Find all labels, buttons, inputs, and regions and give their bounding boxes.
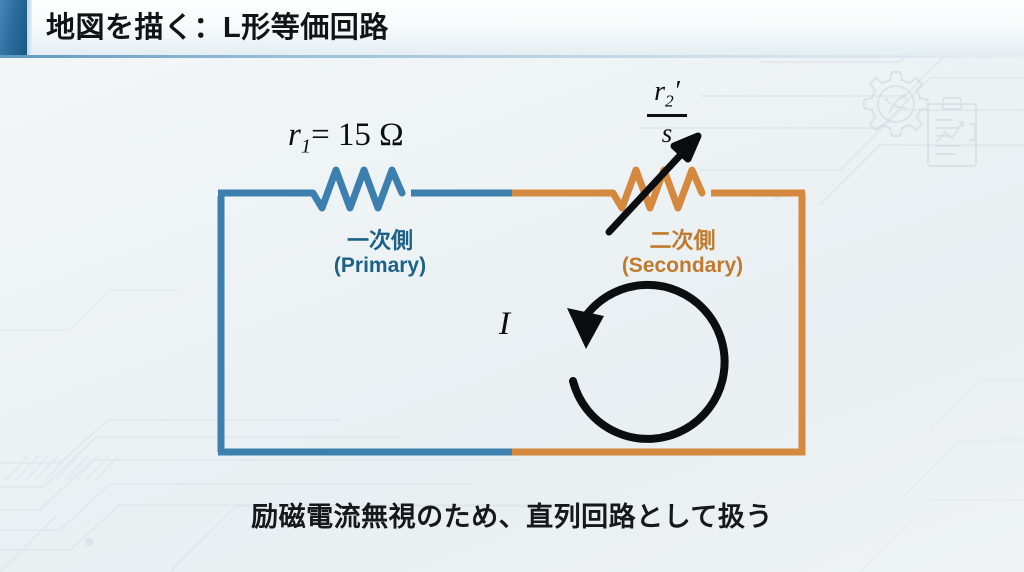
- header-accent-block: [0, 0, 27, 57]
- fraction-bar: [647, 114, 687, 117]
- secondary-resistor-numerator: r2′: [635, 78, 699, 112]
- secondary-resistor-symbol: [613, 170, 702, 208]
- primary-resistor-symbol-text: r: [288, 117, 301, 153]
- variable-resistor-arrow: [609, 136, 698, 232]
- primary-resistor-subscript: 1: [301, 136, 311, 158]
- primary-side-label-jp: 一次側: [300, 228, 460, 254]
- primary-side-label: 一次側 (Primary): [300, 228, 460, 278]
- secondary-resistor-label: r2′ s: [635, 78, 699, 147]
- current-loop-arrowhead: [567, 308, 604, 349]
- decor-node-dot: [773, 192, 781, 200]
- secondary-side-label-en: (Secondary): [600, 254, 765, 278]
- secondary-resistor-denominator: s: [635, 120, 699, 147]
- secondary-side-label: 二次側 (Secondary): [600, 228, 765, 278]
- current-loop-arrow: [573, 285, 725, 439]
- current-label: I: [499, 306, 510, 343]
- clipboard-chart-icon: [928, 98, 976, 166]
- primary-resistor-label: r1= 15 Ω: [288, 117, 404, 159]
- header-underline: [0, 55, 1024, 58]
- primary-side-label-en: (Primary): [300, 254, 460, 278]
- equivalent-circuit-diagram: [0, 0, 1024, 572]
- secondary-numerator-prime: ′: [674, 76, 680, 107]
- secondary-numerator-subscript: 2: [665, 92, 674, 111]
- decor-node-dot: [85, 538, 94, 547]
- page-title: 地図を描く：L形等価回路: [46, 6, 389, 50]
- corner-decoration-icons: [849, 62, 1014, 177]
- slide-root: 地図を描く：L形等価回路: [0, 0, 1024, 572]
- slide-caption: 励磁電流無視のため、直列回路として扱う: [0, 495, 1024, 534]
- primary-resistor-symbol: [313, 170, 402, 208]
- secondary-numerator-symbol: r: [654, 76, 665, 107]
- secondary-side-label-jp: 二次側: [600, 228, 765, 254]
- gear-gauge-icon: [864, 72, 928, 136]
- background-circuit-decoration: [0, 0, 1024, 572]
- primary-resistor-value-text: = 15 Ω: [311, 117, 404, 153]
